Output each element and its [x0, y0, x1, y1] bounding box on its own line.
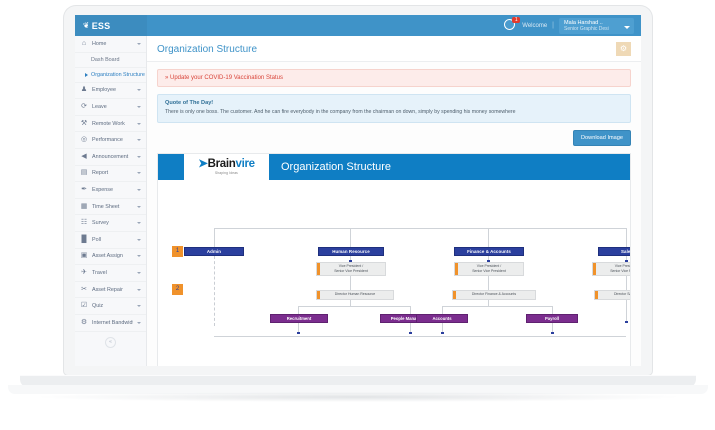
brainvire-tagline: Shaping Ideas	[215, 171, 238, 175]
screenshot-stage: ❦ ESS 1 Welcome | Mala Harshad .. Senior…	[0, 0, 715, 430]
sidebar-item-home[interactable]: ⌂ Home	[75, 36, 146, 53]
page-title: Organization Structure	[157, 44, 257, 55]
sidebar-item-label: Remote Work	[92, 121, 133, 127]
sidebar-nav[interactable]: ⌂ Home Dash Board Organization Structure…	[75, 36, 147, 366]
org-node-payroll[interactable]: Payroll	[526, 314, 578, 323]
chevron-down-icon	[137, 139, 141, 141]
sidebar-item-label: Report	[92, 170, 133, 176]
sidebar-item-survey[interactable]: ☷ Survey	[75, 215, 146, 232]
connector-sales-vp-down	[626, 276, 627, 290]
node-line-1: Director Human Resource	[335, 292, 375, 297]
node-dot	[297, 332, 300, 335]
sidebar-item-label: Quiz	[92, 303, 133, 309]
chevron-down-icon	[137, 272, 141, 274]
org-chart-title: Organization Structure	[269, 154, 630, 180]
connector-hr-split	[298, 306, 410, 307]
level-badge-2[interactable]: 2	[172, 284, 183, 295]
node-line-1: Director Finance & Accounts	[472, 292, 516, 297]
connector-fin-vp-down	[488, 276, 489, 290]
arrow-icon: ➤	[198, 158, 207, 170]
download-row: Download Image	[147, 123, 641, 146]
orange-accent-bar	[317, 263, 320, 275]
app-topbar: ❦ ESS 1 Welcome | Mala Harshad .. Senior…	[75, 15, 641, 36]
user-menu[interactable]: Mala Harshad .. Senior Graphic Desi	[559, 18, 634, 34]
org-node-fin-vice-president[interactable]: Vice President / Senior Vice President	[454, 262, 524, 276]
org-node-sales[interactable]: Sales	[598, 247, 631, 256]
sidebar-item-label: Asset Assign	[92, 253, 133, 259]
report-icon: ▤	[80, 169, 88, 177]
notification-badge: 1	[512, 17, 520, 23]
brainvire-logo: ➤Brainvire Shaping Ideas	[184, 154, 269, 180]
brand-logo[interactable]: ❦ ESS	[75, 15, 147, 36]
topbar-separator: |	[552, 22, 554, 29]
sidebar-item-report[interactable]: ▤ Report	[75, 166, 146, 183]
chevron-down-icon	[137, 222, 141, 224]
connector-admin-dashed	[214, 256, 215, 326]
chevron-down-icon	[137, 305, 141, 307]
org-node-accounts[interactable]: Accounts	[416, 314, 468, 323]
org-chart-header: ➤Brainvire Shaping Ideas Organization St…	[158, 154, 630, 180]
quote-text: There is only one boss. The customer. An…	[165, 109, 623, 116]
org-node-human-resource[interactable]: Human Resource	[318, 247, 384, 256]
internet-bandwidth-icon: ⚙	[80, 319, 88, 327]
sidebar-item-label: Expense	[92, 187, 133, 193]
trunk-horizontal-line	[214, 228, 626, 229]
org-node-finance-accounts[interactable]: Finance & Accounts	[454, 247, 524, 256]
survey-icon: ☷	[80, 219, 88, 227]
leaf-icon: ❦	[82, 21, 90, 30]
chevron-down-icon	[137, 89, 141, 91]
org-node-director-sales[interactable]: Director Sales	[594, 290, 631, 300]
org-node-recruitment[interactable]: Recruitment	[270, 314, 328, 323]
connector-payroll	[552, 306, 553, 314]
chevron-down-icon	[137, 189, 141, 191]
connector-sales-dir-down	[626, 300, 627, 322]
chevron-down-icon	[137, 289, 141, 291]
page-header: Organization Structure ⚙	[147, 36, 641, 62]
sidebar-item-expense[interactable]: ✒ Expense	[75, 182, 146, 199]
chevron-down-icon	[137, 43, 141, 45]
expense-icon: ✒	[80, 186, 88, 194]
node-line-2: Senior Vice President	[472, 269, 506, 274]
performance-icon: ◎	[80, 136, 88, 144]
sidebar-item-quiz[interactable]: ☑ Quiz	[75, 298, 146, 315]
org-node-director-human-resource[interactable]: Director Human Resource	[316, 290, 394, 300]
covid-alert-banner[interactable]: » Update your COVID-19 Vaccination Statu…	[157, 69, 631, 87]
orange-accent-bar	[593, 263, 596, 275]
sidebar-item-asset-assign[interactable]: ▣ Asset Assign	[75, 249, 146, 266]
sidebar-item-remote-work[interactable]: ⚒ Remote Work	[75, 116, 146, 133]
connector-recruitment	[298, 306, 299, 314]
sidebar-item-organization-structure[interactable]: Organization Structure	[75, 68, 146, 83]
sidebar-item-label: Poll	[92, 237, 133, 243]
leave-icon: ⟳	[80, 103, 88, 111]
announcement-icon: ◀	[80, 153, 88, 161]
time-sheet-icon: ▦	[80, 203, 88, 211]
sidebar-item-leave[interactable]: ⟳ Leave	[75, 99, 146, 116]
brand-label: ESS	[92, 21, 111, 31]
level-badge-1[interactable]: 1	[172, 246, 183, 257]
header-accent-block	[158, 154, 184, 180]
sidebar-collapse-button[interactable]: «	[75, 332, 146, 354]
sidebar-item-label: Travel	[92, 270, 133, 276]
main-content: Organization Structure ⚙ » Update your C…	[147, 36, 641, 366]
bullet-icon	[85, 73, 88, 77]
gear-icon[interactable]: ⚙	[616, 42, 631, 56]
org-node-sales-vice-president[interactable]: Vice President / Senior Vice President	[592, 262, 631, 276]
sidebar-item-travel[interactable]: ✈ Travel	[75, 265, 146, 282]
sidebar-item-announcement[interactable]: ◀ Announcement	[75, 149, 146, 166]
orange-accent-bar	[453, 291, 456, 299]
orange-accent-bar	[317, 291, 320, 299]
chevron-down-icon	[137, 156, 141, 158]
travel-icon: ✈	[80, 269, 88, 277]
brainvire-logo-text: ➤Brainvire	[198, 159, 255, 170]
welcome-label: Welcome	[522, 23, 547, 29]
sidebar-item-internet-bandwidth[interactable]: ⚙ Internet Bandwidth	[75, 315, 146, 332]
connector-fin-split	[442, 306, 552, 307]
chevron-down-icon	[137, 255, 141, 257]
node-dot	[409, 332, 412, 335]
laptop-screen: ❦ ESS 1 Welcome | Mala Harshad .. Senior…	[75, 15, 641, 366]
quote-title: Quote of The Day!	[165, 100, 623, 106]
sidebar-item-dash-board[interactable]: Dash Board	[75, 53, 146, 68]
chevron-down-icon	[137, 206, 141, 208]
collapse-icon: «	[105, 337, 116, 348]
chevron-down-icon	[137, 123, 141, 125]
asset-assign-icon: ▣	[80, 252, 88, 260]
logo-brain: Brain	[208, 158, 236, 170]
org-node-hr-vice-president[interactable]: Vice President / Senior Vice President	[316, 262, 386, 276]
sidebar-item-label: Home	[92, 41, 133, 47]
download-image-button[interactable]: Download Image	[573, 130, 631, 146]
sidebar-item-performance[interactable]: ◎ Performance	[75, 132, 146, 149]
sidebar-item-label: Leave	[92, 104, 133, 110]
poll-icon: █	[80, 236, 88, 244]
node-dot	[551, 332, 554, 335]
orange-accent-bar	[455, 263, 458, 275]
user-role: Senior Graphic Desi	[564, 26, 622, 32]
sidebar-item-poll[interactable]: █ Poll	[75, 232, 146, 249]
org-node-director-finance-accounts[interactable]: Director Finance & Accounts	[452, 290, 536, 300]
chevron-down-icon	[137, 239, 141, 241]
topbar-right-group: 1 Welcome | Mala Harshad .. Senior Graph…	[504, 15, 641, 36]
connector-admin	[214, 228, 215, 248]
connector-hr-vp-down	[350, 276, 351, 290]
chevron-down-icon	[137, 322, 141, 324]
connector-sales	[626, 228, 627, 248]
sidebar-subitem-label: Dash Board	[91, 57, 119, 63]
employee-icon: ♟	[80, 86, 88, 94]
remote-work-icon: ⚒	[80, 120, 88, 128]
notification-button[interactable]: 1	[504, 19, 517, 32]
sidebar-item-asset-repair[interactable]: ✂ Asset Repair	[75, 282, 146, 299]
logo-vire: vire	[235, 158, 254, 170]
quiz-icon: ☑	[80, 302, 88, 310]
sidebar-item-label: Performance	[92, 137, 133, 143]
org-chart-panel: ➤Brainvire Shaping Ideas Organization St…	[157, 153, 631, 367]
quote-of-the-day-box: Quote of The Day! There is only one boss…	[157, 94, 631, 123]
sidebar-item-label: Employee	[92, 87, 133, 93]
connector-people-mgmt	[410, 306, 411, 314]
home-icon: ⌂	[80, 40, 88, 48]
chevron-down-icon	[137, 106, 141, 108]
chevron-down-icon	[137, 172, 141, 174]
org-node-admin[interactable]: Admin	[184, 247, 244, 256]
sidebar-item-label: Survey	[92, 220, 133, 226]
laptop-shadow	[40, 392, 676, 402]
sidebar-item-label: Internet Bandwidth	[92, 320, 133, 326]
sidebar-item-employee[interactable]: ♟ Employee	[75, 83, 146, 100]
sidebar-item-time-sheet[interactable]: ▦ Time Sheet	[75, 199, 146, 216]
node-dot	[441, 332, 444, 335]
sidebar-item-label: Asset Repair	[92, 287, 133, 293]
connector-fin	[488, 228, 489, 248]
node-dot	[625, 321, 628, 324]
connector-hr	[350, 228, 351, 248]
sidebar-item-label: Announcement	[92, 154, 133, 160]
sidebar-subitem-label: Organization Structure	[91, 72, 145, 78]
org-chart-canvas[interactable]: 1 2 Admin Human Resource Finance & Accou…	[158, 180, 630, 367]
node-line-2: Senior Vice President	[334, 269, 368, 274]
connector-accounts	[442, 306, 443, 314]
chevron-down-icon	[624, 26, 630, 29]
asset-repair-icon: ✂	[80, 286, 88, 294]
bottom-cut-line	[214, 336, 626, 337]
orange-accent-bar	[595, 291, 598, 299]
sidebar-item-label: Time Sheet	[92, 204, 133, 210]
node-line-1: Director Sales	[614, 292, 631, 297]
node-line-2: Senior Vice President	[610, 269, 631, 274]
